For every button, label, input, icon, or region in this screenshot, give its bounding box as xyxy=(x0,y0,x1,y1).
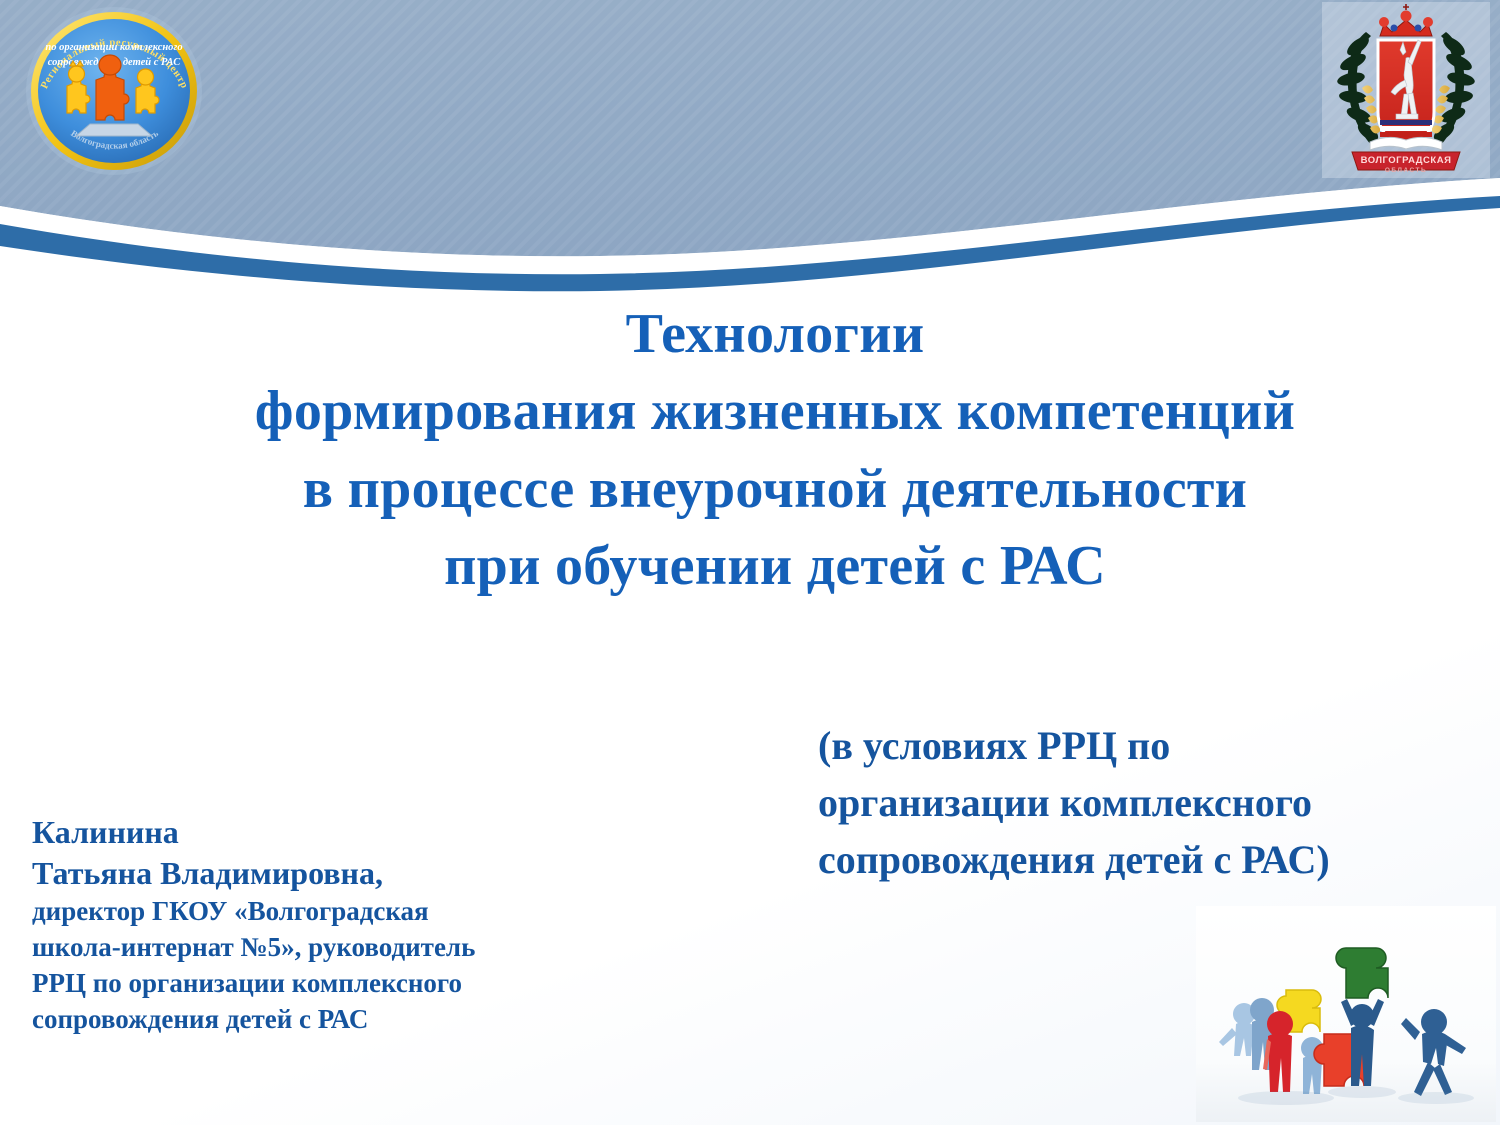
slide-subtitle: (в условиях РРЦ по организации комплексн… xyxy=(818,718,1478,888)
author-credits: Калинина Татьяна Владимировна, директор … xyxy=(32,812,632,1038)
author-role-line-2: школа-интернат №5», руководитель xyxy=(32,930,632,966)
banner-text-line2: ОБЛАСТЬ xyxy=(1385,167,1427,174)
author-role-line-4: сопровождения детей с РАС xyxy=(32,1002,632,1038)
header-decorative-band xyxy=(0,0,1500,300)
presentation-slide: Региональный ресурсный центр по организа… xyxy=(0,0,1500,1125)
slide-title: Технологии формирования жизненных компет… xyxy=(90,296,1460,605)
title-line-2: формирования жизненных компетенций xyxy=(90,373,1460,450)
author-name-line-1: Калинина xyxy=(32,812,632,853)
subtitle-line-3: сопровождения детей с РАС) xyxy=(818,832,1478,889)
subtitle-line-2: организации комплексного xyxy=(818,775,1478,832)
tricolor-bars xyxy=(1380,120,1432,137)
author-role-line-3: РРЦ по организации комплексного xyxy=(32,966,632,1002)
subtitle-line-1: (в условиях РРЦ по xyxy=(818,718,1478,775)
volgograd-oblast-coat-of-arms: ВОЛГОГРАДСКАЯ ОБЛАСТЬ xyxy=(1322,2,1490,178)
author-role-line-1: директор ГКОУ «Волгоградская xyxy=(32,894,632,930)
logo-subtitle-line1: по организации комплексного xyxy=(45,42,182,53)
author-name-line-2: Татьяна Владимировна, xyxy=(32,853,632,894)
banner-text-line1: ВОЛГОГРАДСКАЯ xyxy=(1361,155,1452,166)
rrc-logo: Региональный ресурсный центр по организа… xyxy=(22,2,207,180)
teamwork-puzzle-figures-photo xyxy=(1196,906,1496,1122)
title-line-4: при обучении детей с РАС xyxy=(90,528,1460,605)
title-line-3: в процессе внеурочной деятельности xyxy=(90,451,1460,528)
title-line-1: Технологии xyxy=(90,296,1460,373)
